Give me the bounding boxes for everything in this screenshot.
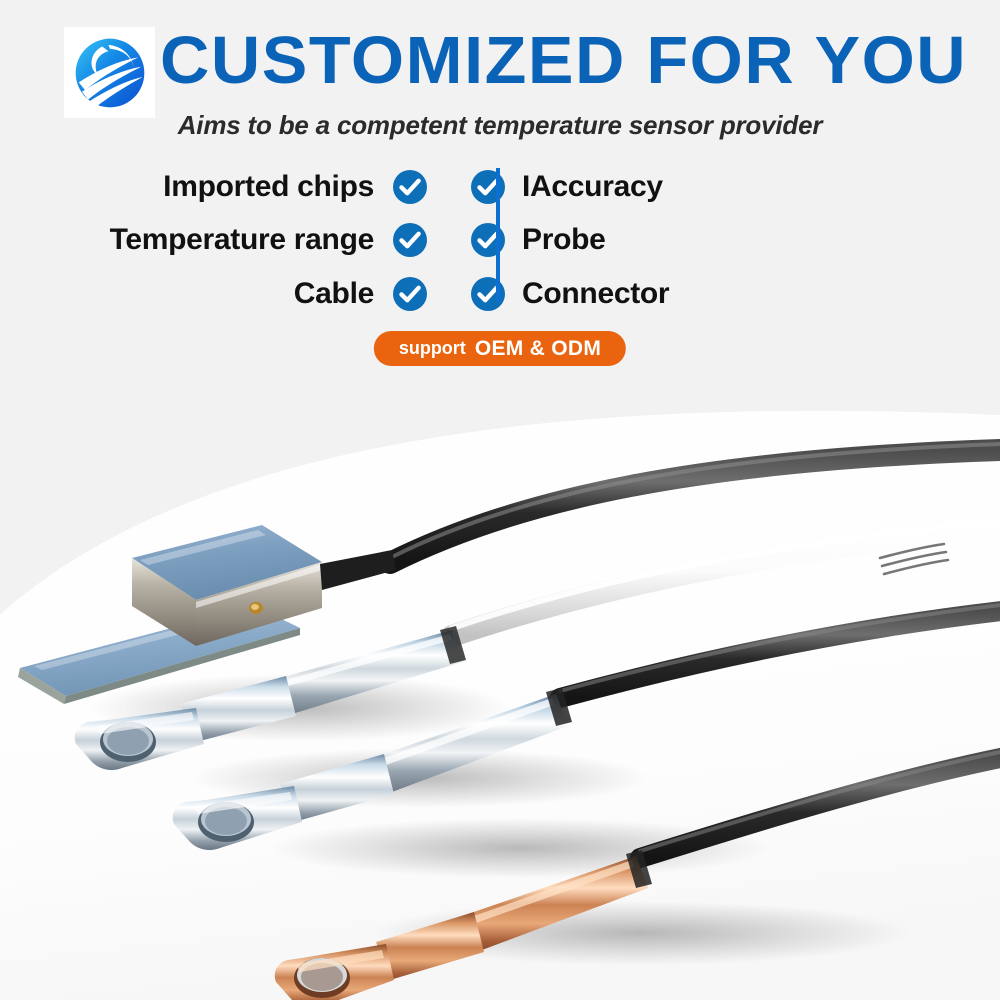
badge-text: OEM & ODM	[475, 331, 601, 366]
product-photo-illustration	[0, 378, 1000, 1000]
feature-left: Imported chips	[0, 169, 428, 205]
screw-dot-highlight	[251, 604, 259, 610]
feature-row: Cable Connector	[0, 271, 1000, 317]
brand-logo	[64, 27, 155, 118]
check-circle-icon	[470, 276, 506, 312]
check-circle-icon	[470, 222, 506, 258]
feature-row: Imported chips IAccuracy	[0, 164, 1000, 210]
feature-list: Imported chips IAccuracy Temperat	[0, 160, 1000, 315]
status-badge: support OEM & ODM	[374, 331, 626, 366]
feature-label-accuracy: IAccuracy	[522, 170, 663, 204]
check-circle-icon	[392, 276, 428, 312]
page-title: CUSTOMIZED FOR YOU	[160, 22, 986, 100]
feature-label-connector: Connector	[522, 277, 669, 311]
feature-row: Temperature range Probe	[0, 217, 1000, 263]
feature-left: Temperature range	[0, 222, 428, 258]
feature-right: IAccuracy	[470, 169, 940, 205]
header-section: CUSTOMIZED FOR YOU Aims to be a competen…	[0, 0, 1000, 380]
check-circle-icon	[470, 169, 506, 205]
page-subtitle: Aims to be a competent temperature senso…	[0, 108, 1000, 142]
feature-right: Probe	[470, 222, 940, 258]
feature-label-imported-chips: Imported chips	[163, 170, 374, 204]
globe-wave-logo-icon	[71, 34, 149, 112]
feature-left: Cable	[0, 276, 428, 312]
product-banner: CUSTOMIZED FOR YOU Aims to be a competen…	[0, 0, 1000, 1000]
check-circle-icon	[392, 222, 428, 258]
check-circle-icon	[392, 169, 428, 205]
product-photo	[0, 378, 1000, 1000]
column-divider	[496, 168, 500, 302]
feature-label-probe: Probe	[522, 223, 606, 257]
feature-right: Connector	[470, 276, 940, 312]
feature-label-cable: Cable	[294, 277, 374, 311]
feature-label-temperature-range: Temperature range	[110, 223, 374, 257]
badge-prefix: support	[399, 331, 466, 366]
